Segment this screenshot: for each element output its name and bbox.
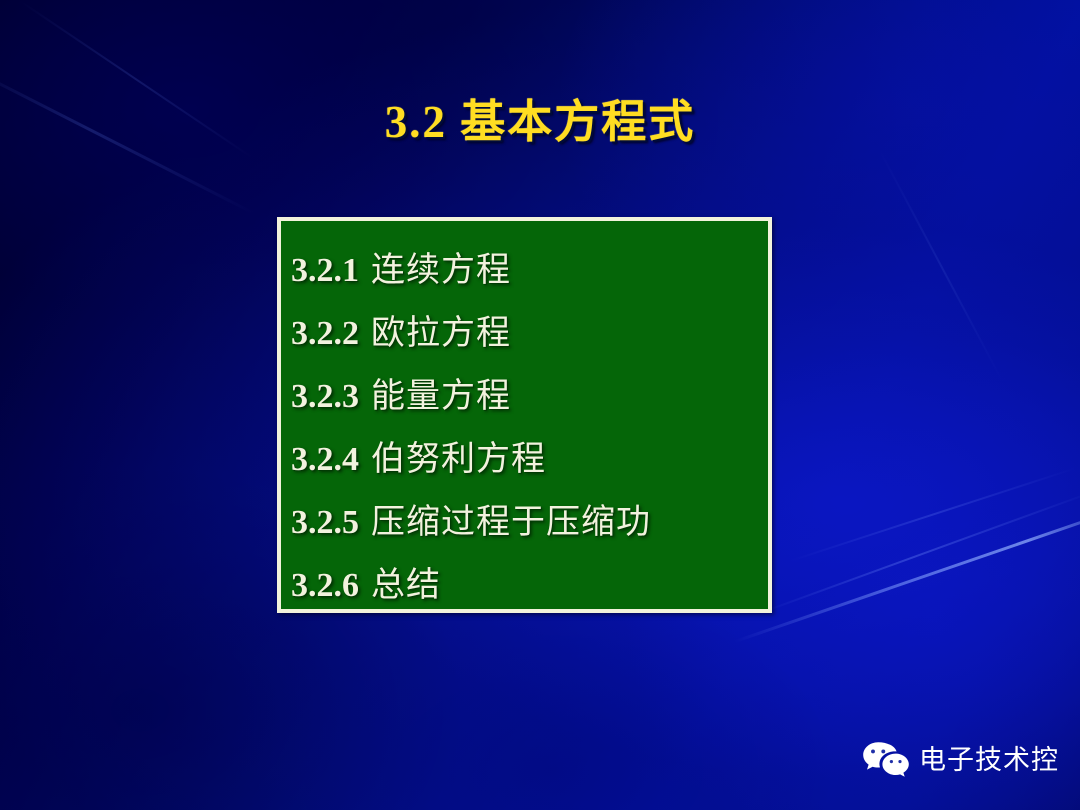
wechat-icon: [862, 740, 910, 780]
list-item-number: 3.2.5: [291, 504, 359, 541]
watermark-label: 电子技术控: [919, 747, 1059, 774]
list-item: 3.2.3能量方程: [291, 365, 762, 428]
background-blotch: [270, 590, 830, 810]
agenda-box: 3.2.1连续方程 3.2.2欧拉方程 3.2.3能量方程 3.2.4伯努利方程…: [277, 217, 772, 613]
background-light-streak: [790, 467, 1076, 562]
list-item: 3.2.1连续方程: [291, 239, 762, 302]
list-item-label: 连续方程: [371, 252, 511, 289]
list-item-label: 伯努利方程: [371, 441, 546, 478]
agenda-list: 3.2.1连续方程 3.2.2欧拉方程 3.2.3能量方程 3.2.4伯努利方程…: [291, 239, 762, 617]
list-item-label: 总结: [371, 567, 441, 604]
list-item-label: 欧拉方程: [371, 315, 511, 352]
background-light-streak: [735, 500, 1080, 643]
list-item-label: 能量方程: [371, 378, 511, 415]
list-item-number: 3.2.6: [291, 567, 359, 604]
list-item-number: 3.2.2: [291, 315, 359, 352]
background-light-streak: [879, 151, 1003, 382]
list-item: 3.2.6总结: [291, 554, 762, 617]
list-item: 3.2.4伯努利方程: [291, 428, 762, 491]
list-item-number: 3.2.3: [291, 378, 359, 415]
list-item: 3.2.2欧拉方程: [291, 302, 762, 365]
list-item-number: 3.2.1: [291, 252, 359, 289]
list-item-number: 3.2.4: [291, 441, 359, 478]
list-item: 3.2.5压缩过程于压缩功: [291, 491, 762, 554]
background-light-streak: [760, 489, 1080, 614]
watermark: 电子技术控: [862, 740, 1059, 780]
slide-title: 3.2 基本方程式: [0, 85, 1080, 150]
list-item-label: 压缩过程于压缩功: [371, 504, 651, 541]
presentation-slide: 3.2 基本方程式 3.2.1连续方程 3.2.2欧拉方程 3.2.3能量方程 …: [0, 0, 1080, 810]
